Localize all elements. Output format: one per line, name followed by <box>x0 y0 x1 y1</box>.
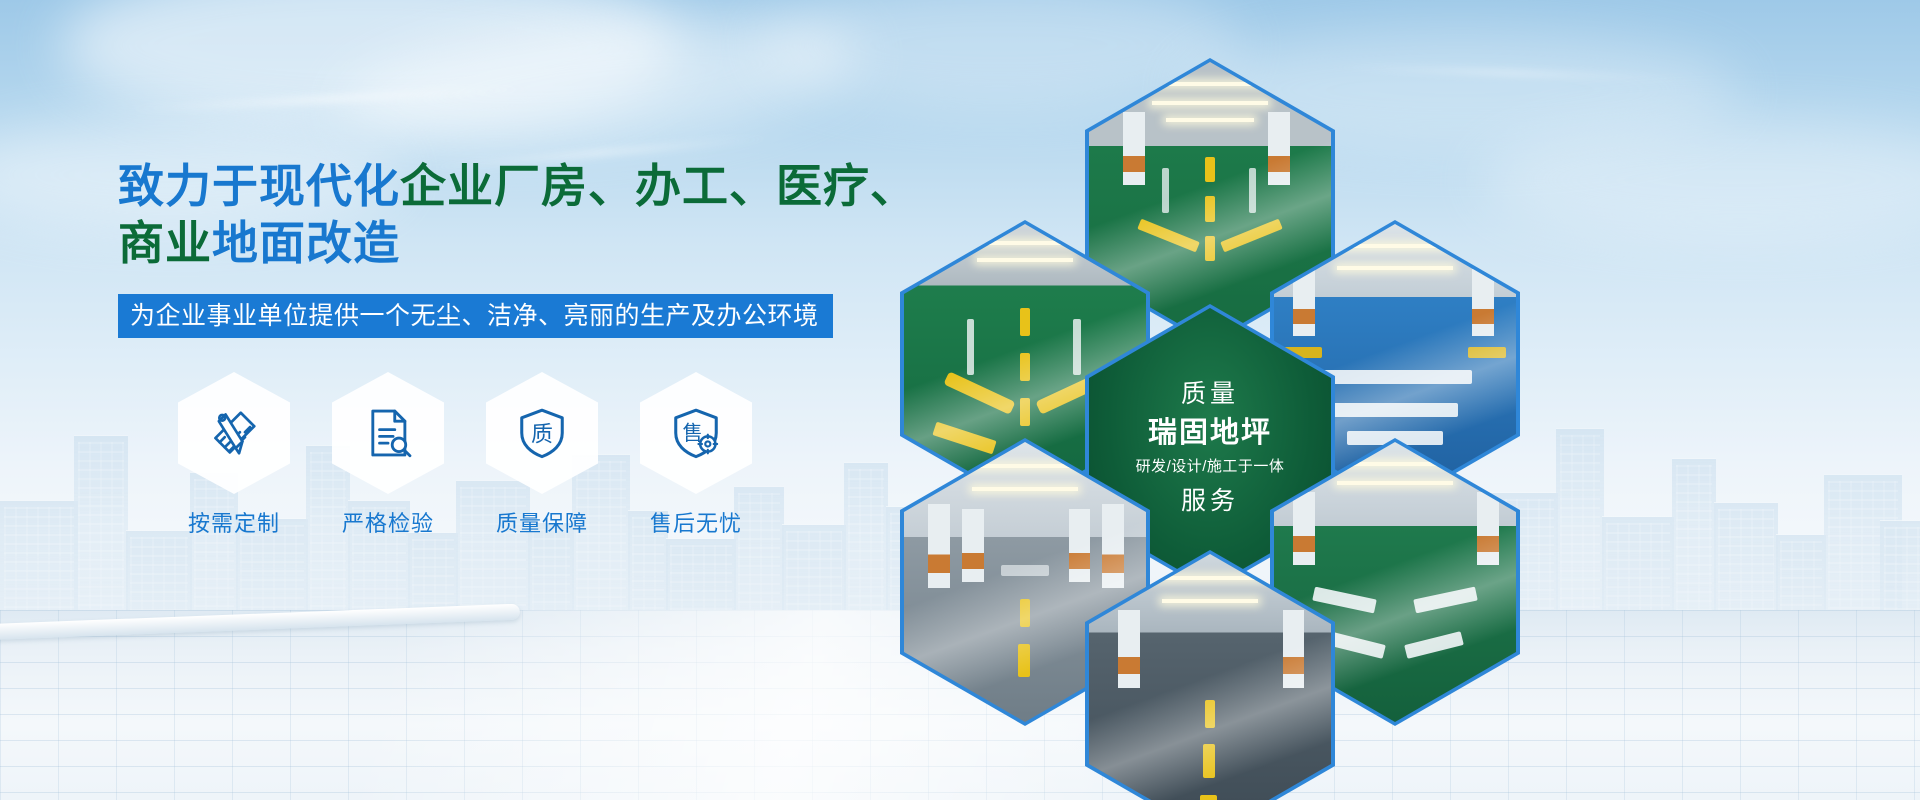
feature-label: 质量保障 <box>486 506 598 538</box>
feature-item-quality[interactable]: 质 质量保障 <box>486 372 598 538</box>
badge-top-text: 质量 <box>1181 378 1239 411</box>
headline-line1-blue: 致力于现代化 <box>118 160 400 212</box>
feature-list: 按需定制 严格检验 <box>178 372 752 538</box>
headline-line2-blue: 地面改造 <box>212 217 400 269</box>
shield-quality-icon: 质 <box>486 372 598 494</box>
svg-text:质: 质 <box>531 421 553 446</box>
hero-banner: 致力于现代化企业厂房、办工、医疗、 商业地面改造 为企业事业单位提供一个无尘、洁… <box>0 0 1920 800</box>
document-search-icon <box>332 372 444 494</box>
company-name: 瑞固地坪 <box>1148 413 1272 453</box>
feature-hex-frame: 质 <box>486 372 598 494</box>
headline-line2-green: 商业 <box>118 217 212 269</box>
cloud-shape <box>335 0 865 167</box>
subtitle-bar: 为企业事业单位提供一个无尘、洁净、亮丽的生产及办公环境 <box>118 294 833 338</box>
ruler-pencil-icon <box>178 372 290 494</box>
cloud-shape <box>60 0 680 130</box>
headline-line-1: 致力于现代化企业厂房、办工、医疗、 <box>118 158 938 215</box>
after-sales-icon: 售 <box>640 372 752 494</box>
badge-bottom-text: 服务 <box>1181 485 1239 518</box>
hex-photo-gallery: 质量 瑞固地坪 研发/设计/施工于一体 服务 <box>900 38 1520 778</box>
feature-hex-frame <box>178 372 290 494</box>
hero-copy: 致力于现代化企业厂房、办工、医疗、 商业地面改造 为企业事业单位提供一个无尘、洁… <box>118 158 938 338</box>
feature-hex-frame <box>332 372 444 494</box>
badge-tagline: 研发/设计/施工于一体 <box>1136 455 1285 479</box>
feature-label: 售后无忧 <box>640 506 752 538</box>
cloud-shape <box>1480 120 1920 240</box>
feature-label: 严格检验 <box>332 506 444 538</box>
page-title: 致力于现代化企业厂房、办工、医疗、 商业地面改造 <box>118 158 938 272</box>
headline-line-2: 商业地面改造 <box>118 215 938 272</box>
cloud-streak <box>120 85 540 113</box>
headline-line1-green: 企业厂房、办工、医疗、 <box>400 160 917 212</box>
feature-hex-frame: 售 <box>640 372 752 494</box>
feature-item-aftersales[interactable]: 售 售后无忧 <box>640 372 752 538</box>
feature-item-custom[interactable]: 按需定制 <box>178 372 290 538</box>
feature-item-inspection[interactable]: 严格检验 <box>332 372 444 538</box>
feature-label: 按需定制 <box>178 506 290 538</box>
